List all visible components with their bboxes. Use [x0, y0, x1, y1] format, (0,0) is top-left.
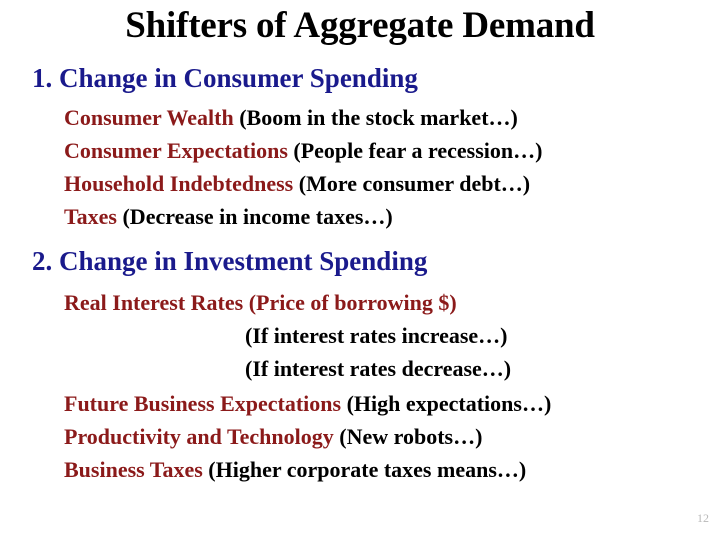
- bullet-keyword: Household Indebtedness: [64, 171, 293, 196]
- bullet-detail: (If interest rates decrease…): [245, 356, 511, 381]
- bullet-detail: (New robots…): [339, 424, 482, 449]
- section-heading-2: 2. Change in Investment Spending: [32, 247, 427, 276]
- bullet-detail: (More consumer debt…): [299, 171, 530, 196]
- bullet-keyword: Business Taxes: [64, 457, 203, 482]
- bullet-keyword: Future Business Expectations: [64, 391, 341, 416]
- bullet-item-continuation: (If interest rates decrease…): [245, 357, 511, 381]
- bullet-item: Consumer Wealth (Boom in the stock marke…: [64, 106, 518, 130]
- bullet-detail: (High expectations…): [347, 391, 552, 416]
- bullet-keyword: Productivity and Technology: [64, 424, 334, 449]
- bullet-keyword: Taxes: [64, 204, 117, 229]
- bullet-detail: (Price of borrowing $): [249, 290, 457, 315]
- bullet-item: Business Taxes (Higher corporate taxes m…: [64, 458, 526, 482]
- bullet-detail: (Higher corporate taxes means…): [208, 457, 526, 482]
- section-heading-1: 1. Change in Consumer Spending: [32, 64, 418, 93]
- bullet-detail: (People fear a recession…): [293, 138, 542, 163]
- page-number: 12: [697, 512, 709, 524]
- bullet-keyword: Consumer Expectations: [64, 138, 288, 163]
- slide-canvas: Shifters of Aggregate Demand 1. Change i…: [0, 0, 720, 540]
- bullet-detail: (Decrease in income taxes…): [122, 204, 392, 229]
- bullet-keyword: Real Interest Rates: [64, 290, 243, 315]
- bullet-item: Consumer Expectations (People fear a rec…: [64, 139, 542, 163]
- bullet-detail: (Boom in the stock market…): [239, 105, 518, 130]
- bullet-item: Real Interest Rates (Price of borrowing …: [64, 291, 457, 315]
- bullet-item: Household Indebtedness (More consumer de…: [64, 172, 530, 196]
- bullet-keyword: Consumer Wealth: [64, 105, 234, 130]
- bullet-item: Taxes (Decrease in income taxes…): [64, 205, 393, 229]
- bullet-item: Future Business Expectations (High expec…: [64, 392, 551, 416]
- slide-title: Shifters of Aggregate Demand: [0, 6, 720, 45]
- bullet-item-continuation: (If interest rates increase…): [245, 324, 508, 348]
- bullet-detail: (If interest rates increase…): [245, 323, 508, 348]
- bullet-item: Productivity and Technology (New robots……: [64, 425, 482, 449]
